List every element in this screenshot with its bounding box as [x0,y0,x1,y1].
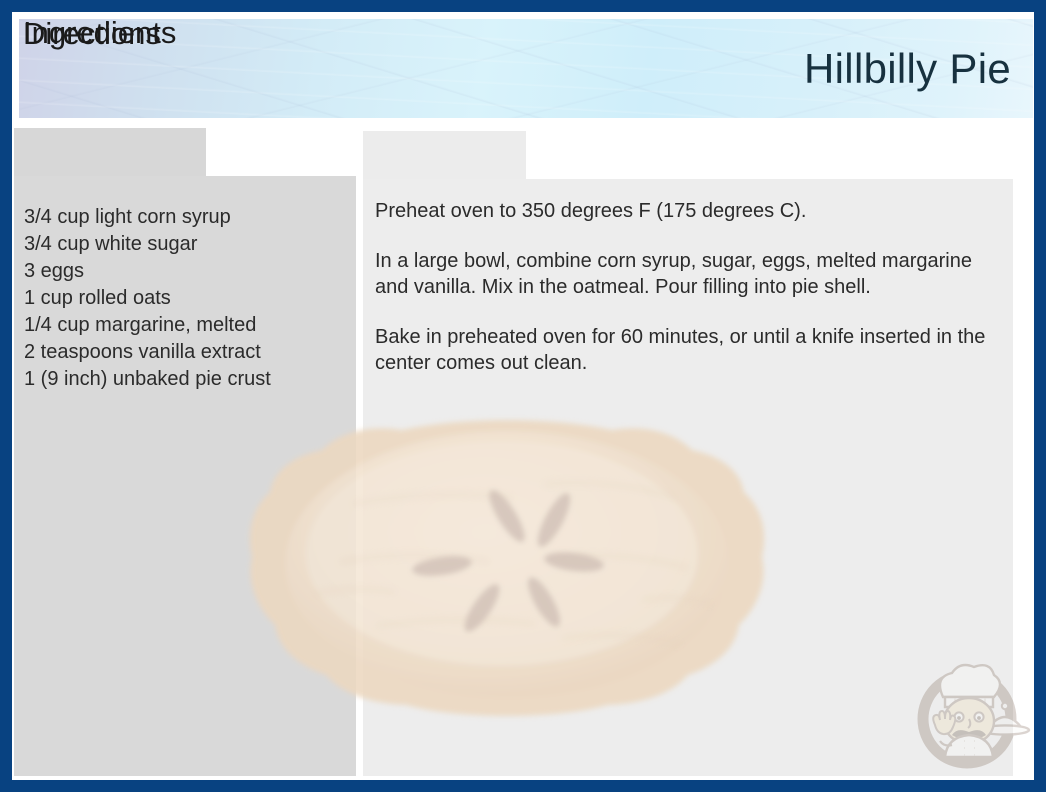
directions-panel: Preheat oven to 350 degrees F (175 degre… [363,179,1013,776]
ingredient-item: 1 (9 inch) unbaked pie crust [24,366,348,393]
ingredient-item: 1/4 cup margarine, melted [24,312,348,339]
ingredients-tab [14,128,206,176]
ingredient-item: 3/4 cup white sugar [24,231,348,258]
directions-heading: Directions [23,16,161,52]
directions-steps: Preheat oven to 350 degrees F (175 degre… [375,198,1001,376]
ingredient-item: 3 eggs [24,258,348,285]
directions-tab [363,131,526,179]
ingredient-item: 3/4 cup light corn syrup [24,204,348,231]
recipe-card: Hillbilly Pie Ingredients 3/4 cup light … [0,0,1046,792]
card-inner-frame: Hillbilly Pie Ingredients 3/4 cup light … [12,12,1034,780]
ingredient-item: 1 cup rolled oats [24,285,348,312]
recipe-title: Hillbilly Pie [804,45,1011,93]
direction-step: Preheat oven to 350 degrees F (175 degre… [375,198,1001,224]
direction-step: Bake in preheated oven for 60 minutes, o… [375,324,1001,376]
ingredients-list: 3/4 cup light corn syrup 3/4 cup white s… [24,204,348,393]
ingredients-panel: 3/4 cup light corn syrup 3/4 cup white s… [14,176,356,776]
ingredient-item: 2 teaspoons vanilla extract [24,339,348,366]
direction-step: In a large bowl, combine corn syrup, sug… [375,248,1001,300]
